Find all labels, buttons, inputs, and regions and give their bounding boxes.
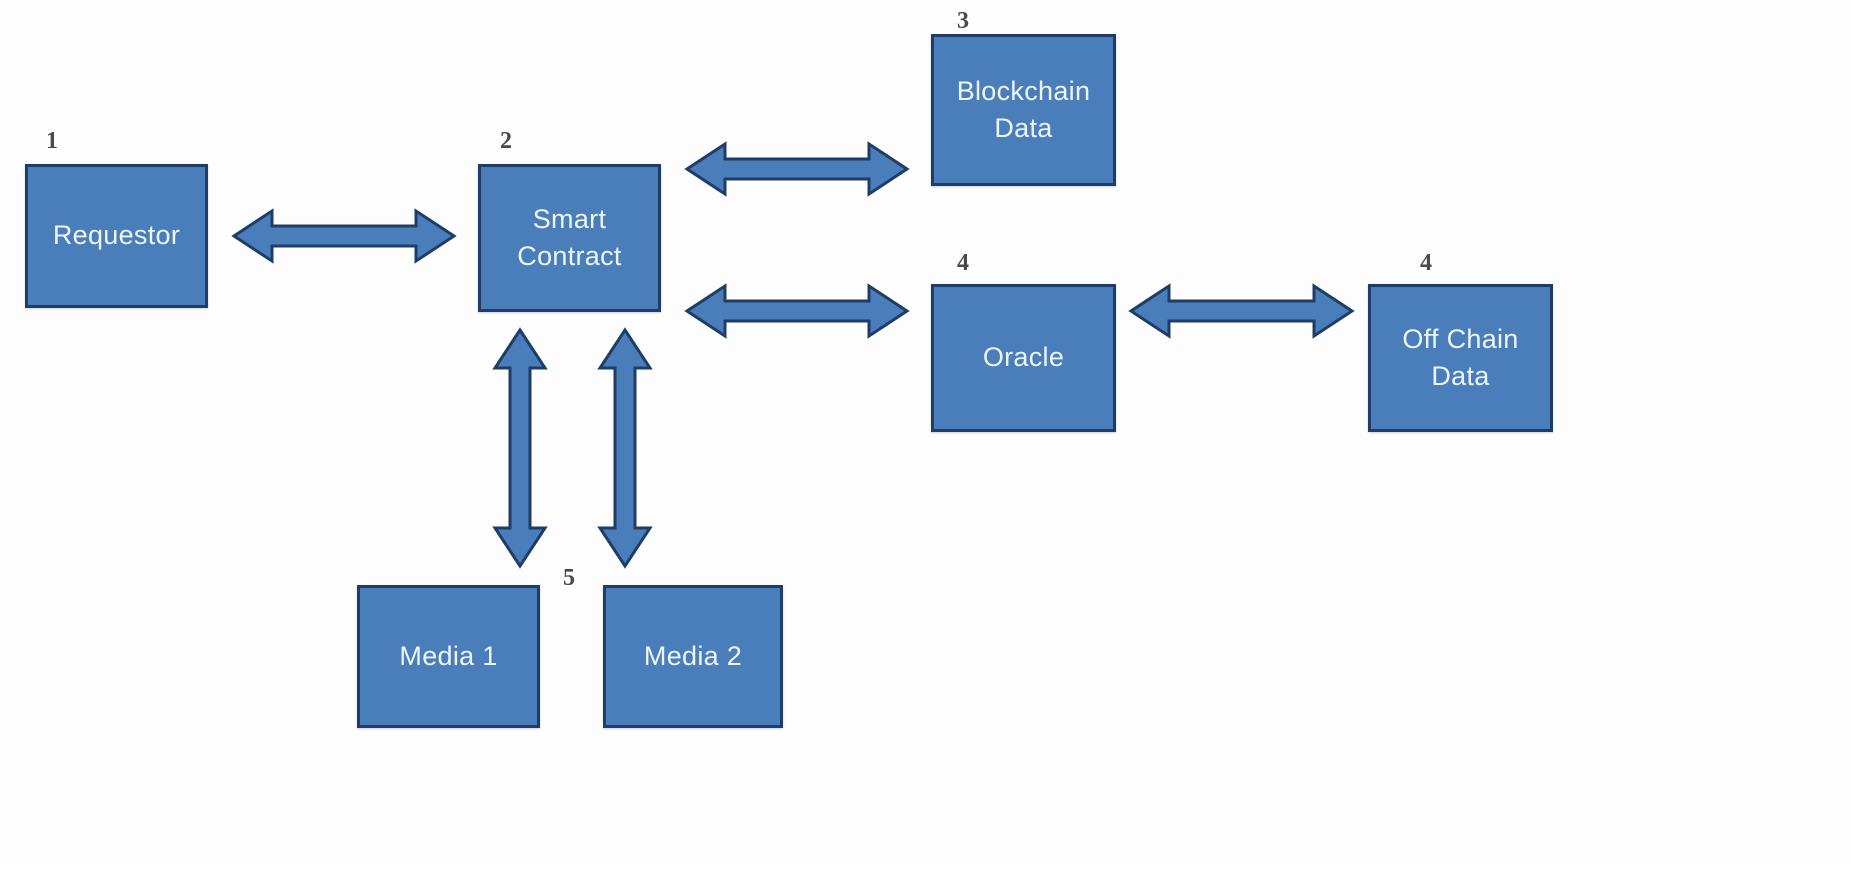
node-number-4-off-chain: 4 (1420, 250, 1432, 277)
node-media-2[interactable]: Media 2 (603, 585, 783, 728)
node-media-1[interactable]: Media 1 (357, 585, 540, 728)
node-number-5: 5 (563, 565, 575, 592)
arrow-smart-contract-media-2 (588, 328, 662, 568)
diagram-canvas: 1 2 3 4 4 5 Requestor Smart Contract Blo… (0, 0, 1851, 872)
node-blockchain-data[interactable]: Blockchain Data (931, 34, 1116, 186)
arrow-smart-contract-media-1 (483, 328, 557, 568)
arrow-requestor-smart-contract (232, 199, 456, 273)
node-smart-contract[interactable]: Smart Contract (478, 164, 661, 312)
node-number-1: 1 (46, 128, 58, 155)
arrow-oracle-off-chain-data (1129, 274, 1354, 348)
page-bottom-edge (0, 864, 1851, 872)
node-requestor[interactable]: Requestor (25, 164, 208, 308)
node-number-2: 2 (500, 128, 512, 155)
arrow-smart-contract-blockchain-data (685, 132, 909, 206)
node-number-3: 3 (957, 8, 969, 35)
arrow-smart-contract-oracle (685, 274, 909, 348)
node-oracle[interactable]: Oracle (931, 284, 1116, 432)
node-number-4-oracle: 4 (957, 250, 969, 277)
node-off-chain-data[interactable]: Off Chain Data (1368, 284, 1553, 432)
